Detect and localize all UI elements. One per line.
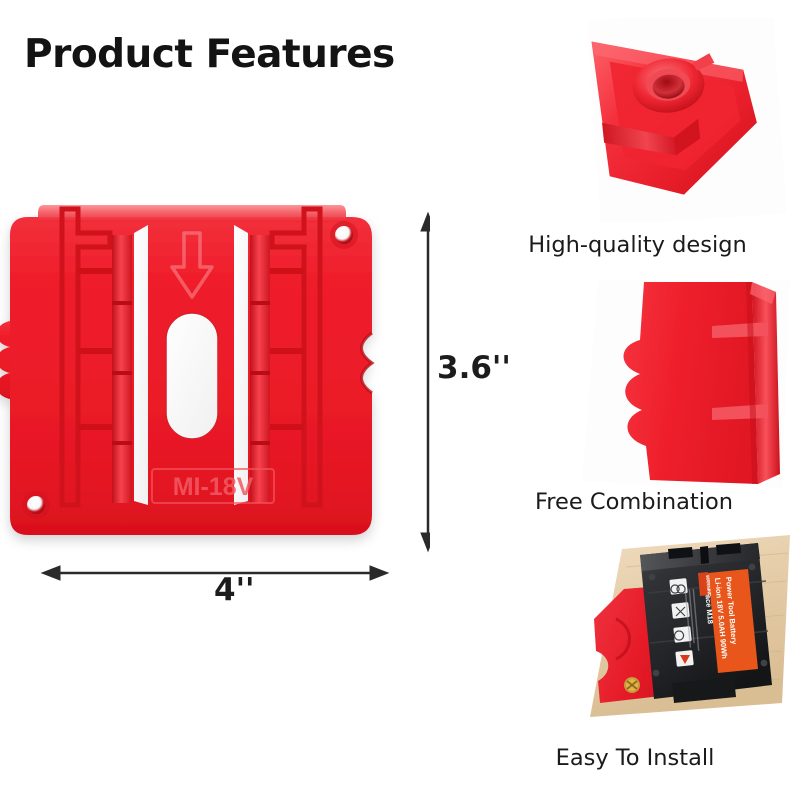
feature-caption-free-combination: Free Combination xyxy=(0,489,800,515)
feature-panel-high-quality-design xyxy=(580,18,792,223)
feature-panel-free-combination xyxy=(576,278,790,490)
feature-caption-easy-to-install: Easy To Install xyxy=(0,745,800,771)
dimension-label-height: 3.6'' xyxy=(437,350,511,386)
right-rib-column xyxy=(250,235,270,503)
feature-panel-easy-to-install: Power Tool Battery Li-ion 18V 5.0AH 90Wh… xyxy=(576,533,792,738)
left-interlock-bumps xyxy=(0,321,10,399)
feature-caption-high-quality-design: High-quality design xyxy=(0,232,800,258)
dimension-label-width: 4'' xyxy=(214,572,255,608)
center-oval-slot xyxy=(166,313,218,439)
mounting-screw-icon xyxy=(624,677,640,693)
infographic-canvas: Product Features xyxy=(0,0,800,800)
right-slot xyxy=(234,225,248,505)
left-rib-column xyxy=(112,235,132,503)
battery-pack: Power Tool Battery Li-ion 18V 5.0AH 90Wh… xyxy=(640,543,772,703)
page-title: Product Features xyxy=(24,32,395,77)
top-rail-lip xyxy=(38,205,346,222)
left-slot xyxy=(134,225,148,505)
